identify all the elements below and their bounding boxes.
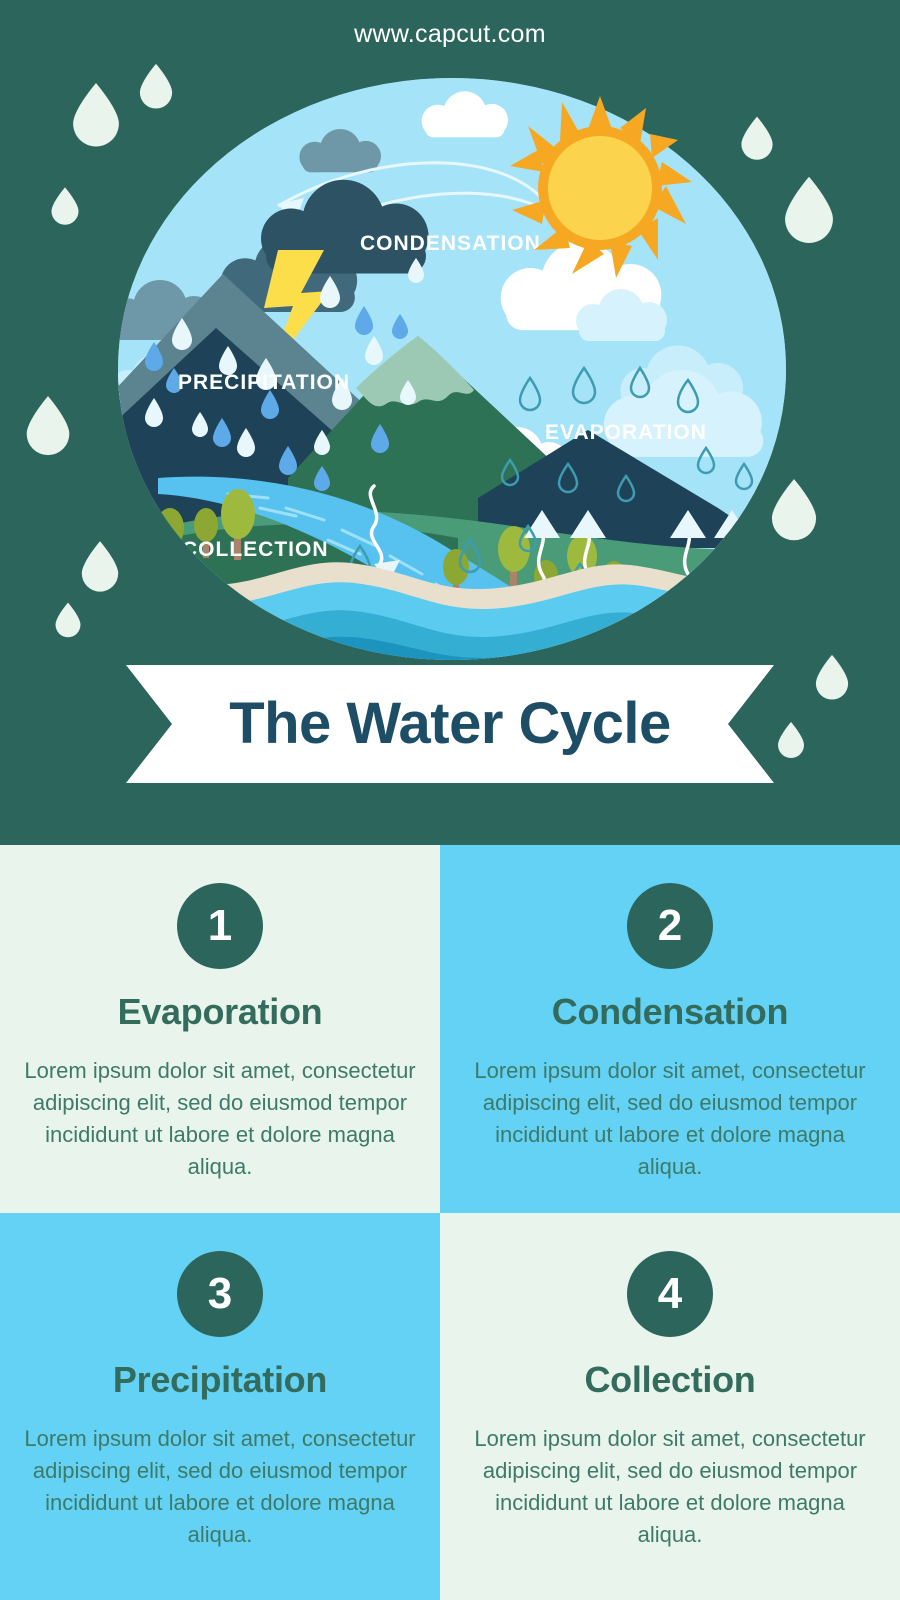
scene-svg: CONDENSATION PRECIPITATION EVAPORATION C… xyxy=(118,78,786,660)
steps-grid: 1 Evaporation Lorem ipsum dolor sit amet… xyxy=(0,845,900,1600)
droplet-icon xyxy=(785,177,833,243)
step-number-badge: 3 xyxy=(177,1251,263,1337)
droplet-icon xyxy=(778,722,804,758)
droplet-icon xyxy=(816,655,848,700)
droplet-icon xyxy=(27,396,70,455)
page-title: The Water Cycle xyxy=(229,690,671,757)
title-ribbon: The Water Cycle xyxy=(126,665,774,783)
step-number-badge: 4 xyxy=(627,1251,713,1337)
droplet-icon xyxy=(82,541,118,591)
step-description: Lorem ipsum dolor sit amet, consectetur … xyxy=(22,1055,418,1183)
label-collection: COLLECTION xyxy=(182,538,329,561)
step-card-2[interactable]: 2 Condensation Lorem ipsum dolor sit ame… xyxy=(440,845,900,1213)
droplet-icon xyxy=(772,479,816,540)
droplet-icon xyxy=(741,117,772,160)
droplet-icon xyxy=(73,83,119,146)
water-cycle-illustration: CONDENSATION PRECIPITATION EVAPORATION C… xyxy=(118,78,786,660)
step-description: Lorem ipsum dolor sit amet, consectetur … xyxy=(22,1423,418,1551)
step-number-badge: 2 xyxy=(627,883,713,969)
droplet-icon xyxy=(56,603,81,638)
label-precipitation: PRECIPITATION xyxy=(178,371,350,394)
step-title: Collection xyxy=(462,1359,878,1401)
label-condensation: CONDENSATION xyxy=(360,232,541,255)
droplet-icon xyxy=(51,187,78,224)
label-evaporation: EVAPORATION xyxy=(545,421,707,444)
step-card-4[interactable]: 4 Collection Lorem ipsum dolor sit amet,… xyxy=(440,1213,900,1600)
step-number-badge: 1 xyxy=(177,883,263,969)
step-card-3[interactable]: 3 Precipitation Lorem ipsum dolor sit am… xyxy=(0,1213,440,1600)
step-description: Lorem ipsum dolor sit amet, consectetur … xyxy=(470,1423,870,1551)
hero-section: www.capcut.com xyxy=(0,0,900,845)
step-title: Condensation xyxy=(462,991,878,1033)
droplet-icon xyxy=(140,64,172,109)
step-title: Precipitation xyxy=(22,1359,418,1401)
step-title: Evaporation xyxy=(22,991,418,1033)
step-card-1[interactable]: 1 Evaporation Lorem ipsum dolor sit amet… xyxy=(0,845,440,1213)
step-description: Lorem ipsum dolor sit amet, consectetur … xyxy=(470,1055,870,1183)
